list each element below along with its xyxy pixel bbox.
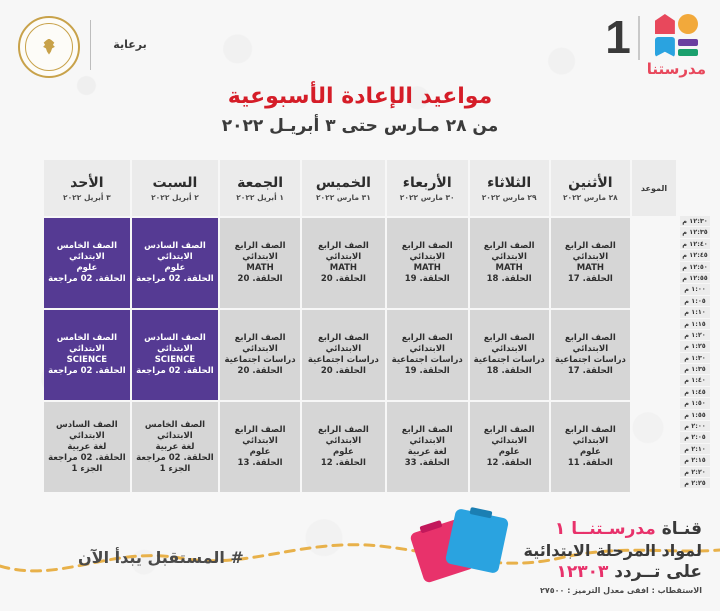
time-slot: ١:١٠ م	[680, 307, 710, 317]
cell-episode: الحلقة. 17	[554, 274, 627, 285]
time-slot: ٢:١٠ م	[680, 444, 710, 454]
infographic-sheet: برعاية مدرستنا 1 مواعيد الإعادة الأسبوعي…	[0, 0, 720, 611]
bookmark-shape-icon	[655, 37, 675, 57]
schedule-cell: الصف الرابع الابتدائيدراسات اجتماعيةالحل…	[470, 310, 549, 400]
page-title: مواعيد الإعادة الأسبوعية	[0, 84, 720, 109]
cell-episode: الحلقة. 13	[223, 458, 297, 469]
footer-channel-prefix: قنـاة	[656, 519, 702, 539]
cell-episode: الحلقة. 20	[305, 366, 382, 377]
logo-shapes	[655, 14, 698, 57]
time-slot: ١٢:٥٠ م	[680, 262, 710, 272]
day-date: ١ أبريل ٢٠٢٢	[222, 193, 298, 202]
schedule-cell: الصف الخامس الابتدائيلغة عربيةالحلقة. 02…	[132, 402, 218, 492]
cell-subject: علوم	[473, 447, 546, 458]
hashtag-text: # المستقبل يبدأ الآن	[78, 548, 244, 567]
footer-frequency: ١٢٣٠٣	[556, 562, 608, 582]
time-slot: ١:٠٥ م	[680, 296, 710, 306]
day-header-4: الجمعة ١ أبريل ٢٠٢٢	[220, 160, 300, 216]
cell-episode: الحلقة. 18	[473, 366, 546, 377]
cell-episode: الحلقة. 17	[554, 366, 627, 377]
bars-shape-icon	[678, 37, 698, 57]
cell-grade: الصف الرابع الابتدائي	[473, 241, 546, 263]
cell-episode: الحلقة. 02 مراجعة	[47, 274, 127, 285]
schedule-body: الصف الرابع الابتدائيMATHالحلقة. 17الصف …	[44, 218, 676, 492]
time-slot: ١٢:٤٥ م	[680, 250, 710, 260]
cell-grade: الصف الرابع الابتدائي	[554, 333, 627, 355]
cell-grade: الصف الخامس الابتدائي	[135, 420, 215, 442]
schedule-cell: الصف الرابع الابتدائيMATHالحلقة. 20	[302, 218, 385, 308]
time-column-spacer	[632, 310, 676, 400]
day-header-1: الثلاثاء ٢٩ مارس ٢٠٢٢	[470, 160, 549, 216]
circle-shape-icon	[678, 14, 698, 34]
cell-subject: لغة عربية	[47, 442, 127, 453]
time-slot: ١:٢٠ م	[680, 330, 710, 340]
cell-grade: الصف السادس الابتدائي	[135, 333, 215, 355]
day-name: الأثنين	[553, 175, 628, 191]
footer-freq-prefix: على تــردد	[608, 562, 702, 582]
ministry-seal-icon	[18, 16, 80, 78]
sponsor-label: برعاية	[100, 38, 160, 51]
cell-grade: الصف الرابع الابتدائي	[305, 241, 382, 263]
cell-episode: الحلقة. 02 مراجعة	[47, 453, 127, 464]
cell-grade: الصف الرابع الابتدائي	[223, 241, 297, 263]
footer-line-1: قنـاة مدرسـتنــا ١	[524, 519, 702, 540]
cell-episode: الحلقة. 02 مراجعة	[135, 366, 215, 377]
cell-episode: الحلقة. 20	[305, 274, 382, 285]
day-date: ٣ أبريل ٢٠٢٢	[46, 193, 128, 202]
cell-grade: الصف الرابع الابتدائي	[390, 333, 465, 355]
time-slot: ٢:٠٥ م	[680, 432, 710, 442]
time-slot: ٢:٢٠ م	[680, 467, 710, 477]
madrasatna-logo: مدرستنا	[647, 14, 706, 78]
page-subtitle: من ٢٨ مـارس حتى ٣ أبريـل ٢٠٢٢	[0, 116, 720, 136]
brand-divider	[638, 16, 640, 60]
table-row: الصف الرابع الابتدائيMATHالحلقة. 17الصف …	[44, 218, 676, 308]
day-header-5: السبت ٢ أبريل ٢٠٢٢	[132, 160, 218, 216]
cell-grade: الصف الرابع الابتدائي	[390, 425, 465, 447]
schedule-cell: الصف الرابع الابتدائيMATHالحلقة. 20	[220, 218, 300, 308]
cell-subject: علوم	[47, 263, 127, 274]
schedule-cell: الصف السادس الابتدائيلغة عربيةالحلقة. 02…	[44, 402, 130, 492]
cell-episode: الحلقة. 02 مراجعة	[135, 274, 215, 285]
blue-book-icon	[445, 508, 509, 574]
cell-subject: دراسات اجتماعية	[390, 355, 465, 366]
day-header-0: الأثنين ٢٨ مارس ٢٠٢٢	[551, 160, 630, 216]
schedule-cell: الصف الرابع الابتدائيدراسات اجتماعيةالحل…	[551, 310, 630, 400]
day-name: السبت	[134, 175, 216, 191]
cell-subject: دراسات اجتماعية	[473, 355, 546, 366]
day-date: ٣٠ مارس ٢٠٢٢	[389, 193, 466, 202]
day-date: ٣١ مارس ٢٠٢٢	[304, 193, 383, 202]
schedule-cell: الصف الرابع الابتدائيعلومالحلقة. 12	[302, 402, 385, 492]
time-slot: ١٢:٣٠ م	[680, 216, 710, 226]
cell-subject: MATH	[305, 263, 382, 274]
cell-grade: الصف الرابع الابتدائي	[223, 333, 297, 355]
cell-episode: الحلقة. 12	[305, 458, 382, 469]
cell-episode: الحلقة. 18	[473, 274, 546, 285]
house-shape-icon	[655, 14, 675, 34]
time-slot: ١٢:٣٥ م	[680, 227, 710, 237]
cell-grade: الصف الرابع الابتدائي	[223, 425, 297, 447]
books-illustration	[416, 507, 512, 583]
day-header-3: الخميس ٣١ مارس ٢٠٢٢	[302, 160, 385, 216]
footer-line-3: على تــردد ١٢٣٠٣	[524, 561, 702, 583]
cell-grade: الصف الرابع الابتدائي	[554, 241, 627, 263]
cell-subject: SCIENCE	[47, 355, 127, 366]
time-slot: ١:٢٥ م	[680, 341, 710, 351]
schedule-cell: الصف السادس الابتدائيSCIENCEالحلقة. 02 م…	[132, 310, 218, 400]
time-slot: ١:٤٥ م	[680, 387, 710, 397]
cell-subject: دراسات اجتماعية	[223, 355, 297, 366]
cell-episode: الحلقة. 02 مراجعة	[47, 366, 127, 377]
cell-grade: الصف الخامس الابتدائي	[47, 333, 127, 355]
cell-episode: الحلقة. 20	[223, 274, 297, 285]
cell-grade: الصف الرابع الابتدائي	[305, 333, 382, 355]
schedule-cell: الصف الخامس الابتدائيعلومالحلقة. 02 مراج…	[44, 218, 130, 308]
day-date: ٢ أبريل ٢٠٢٢	[134, 193, 216, 202]
eagle-emblem-icon	[42, 39, 56, 55]
cell-grade: الصف الرابع الابتدائي	[390, 241, 465, 263]
cell-grade: الصف الرابع الابتدائي	[473, 333, 546, 355]
cell-grade: الصف الرابع الابتدائي	[554, 425, 627, 447]
cell-subject: علوم	[554, 447, 627, 458]
cell-subject: لغة عربية	[390, 447, 465, 458]
time-column-spacer	[632, 402, 676, 492]
time-slot-list: ١٢:٣٠ م١٢:٣٥ م١٢:٤٠ م١٢:٤٥ م١٢:٥٠ م١٢:٥٥…	[680, 216, 710, 488]
time-slot: ١٢:٤٠ م	[680, 239, 710, 249]
schedule-cell: الصف الرابع الابتدائيMATHالحلقة. 17	[551, 218, 630, 308]
schedule-cell: الصف السادس الابتدائيعلومالحلقة. 02 مراج…	[132, 218, 218, 308]
time-slot: ٢:١٥ م	[680, 455, 710, 465]
footer-channel-brand: مدرسـتنــا ١	[555, 519, 656, 539]
footer-line-4: الاستقطاب : افقى معدل الترميز : ٢٧٥٠٠	[524, 586, 702, 595]
cell-episode: الحلقة. 11	[554, 458, 627, 469]
time-column-header: الموعد	[632, 160, 676, 216]
cell-subject: علوم	[305, 447, 382, 458]
day-date: ٢٩ مارس ٢٠٢٢	[472, 193, 547, 202]
cell-grade: الصف الرابع الابتدائي	[305, 425, 382, 447]
time-slot: ١:٣٠ م	[680, 353, 710, 363]
schedule-cell: الصف الرابع الابتدائيعلومالحلقة. 11	[551, 402, 630, 492]
schedule-table: الموعد الأثنين ٢٨ مارس ٢٠٢٢ الثلاثاء ٢٩ …	[42, 158, 678, 494]
schedule-cell: الصف الرابع الابتدائيMATHالحلقة. 19	[387, 218, 468, 308]
day-name: الأحد	[46, 175, 128, 191]
cell-subject: MATH	[390, 263, 465, 274]
schedule-cell: الصف الرابع الابتدائيMATHالحلقة. 18	[470, 218, 549, 308]
cell-part: الجزء 1	[135, 464, 215, 475]
schedule-cell: الصف الرابع الابتدائيعلومالحلقة. 12	[470, 402, 549, 492]
footer-line-2: لمواد المرحلة الابتدائية	[524, 540, 702, 561]
time-slot: ١:٥٠ م	[680, 398, 710, 408]
cell-grade: الصف الرابع الابتدائي	[473, 425, 546, 447]
cell-grade: الصف الخامس الابتدائي	[47, 241, 127, 263]
time-slot: ١:٥٥ م	[680, 410, 710, 420]
cell-grade: الصف السادس الابتدائي	[47, 420, 127, 442]
day-header-2: الأربعاء ٣٠ مارس ٢٠٢٢	[387, 160, 468, 216]
day-name: الثلاثاء	[472, 175, 547, 191]
cell-episode: الحلقة. 33	[390, 458, 465, 469]
cell-subject: دراسات اجتماعية	[305, 355, 382, 366]
time-slot: ٢:٢٥ م	[680, 478, 710, 488]
cell-episode: الحلقة. 19	[390, 274, 465, 285]
cell-subject: MATH	[223, 263, 297, 274]
schedule-cell: الصف الرابع الابتدائيدراسات اجتماعيةالحل…	[387, 310, 468, 400]
schedule-cell: الصف الرابع الابتدائيدراسات اجتماعيةالحل…	[220, 310, 300, 400]
cell-subject: MATH	[473, 263, 546, 274]
time-slot: ٢:٠٠ م	[680, 421, 710, 431]
table-row: الصف الرابع الابتدائيعلومالحلقة. 11الصف …	[44, 402, 676, 492]
schedule-cell: الصف الخامس الابتدائيSCIENCEالحلقة. 02 م…	[44, 310, 130, 400]
cell-subject: SCIENCE	[135, 355, 215, 366]
day-name: الجمعة	[222, 175, 298, 191]
cell-episode: الحلقة. 20	[223, 366, 297, 377]
footer-channel-info: قنـاة مدرسـتنــا ١ لمواد المرحلة الابتدا…	[524, 519, 702, 595]
cell-part: الجزء 1	[47, 464, 127, 475]
cell-subject: علوم	[135, 263, 215, 274]
day-date: ٢٨ مارس ٢٠٢٢	[553, 193, 628, 202]
cell-episode: الحلقة. 02 مراجعة	[135, 453, 215, 464]
cell-episode: الحلقة. 19	[390, 366, 465, 377]
day-name: الأربعاء	[389, 175, 466, 191]
cell-episode: الحلقة. 12	[473, 458, 546, 469]
time-slot: ١:٤٠ م	[680, 375, 710, 385]
table-header-row: الموعد الأثنين ٢٨ مارس ٢٠٢٢ الثلاثاء ٢٩ …	[44, 160, 676, 216]
time-slot: ١٢:٥٥ م	[680, 273, 710, 283]
cell-grade: الصف السادس الابتدائي	[135, 241, 215, 263]
table-row: الصف الرابع الابتدائيدراسات اجتماعيةالحل…	[44, 310, 676, 400]
time-slot: ١:٣٥ م	[680, 364, 710, 374]
cell-subject: علوم	[223, 447, 297, 458]
channel-name: مدرستنا	[647, 60, 706, 78]
schedule-cell: الصف الرابع الابتدائيلغة عربيةالحلقة. 33	[387, 402, 468, 492]
cell-subject: لغة عربية	[135, 442, 215, 453]
header-bar: برعاية مدرستنا 1	[0, 0, 720, 78]
channel-brand: مدرستنا 1	[599, 14, 706, 76]
time-slot: ١:١٥ م	[680, 319, 710, 329]
day-header-6: الأحد ٣ أبريل ٢٠٢٢	[44, 160, 130, 216]
channel-number: 1	[605, 14, 631, 60]
time-slot: ١:٠٠ م	[680, 284, 710, 294]
day-name: الخميس	[304, 175, 383, 191]
cell-subject: MATH	[554, 263, 627, 274]
cell-subject: دراسات اجتماعية	[554, 355, 627, 366]
time-column-spacer	[632, 218, 676, 308]
schedule-cell: الصف الرابع الابتدائيدراسات اجتماعيةالحل…	[302, 310, 385, 400]
header-divider	[90, 20, 91, 70]
schedule-cell: الصف الرابع الابتدائيعلومالحلقة. 13	[220, 402, 300, 492]
